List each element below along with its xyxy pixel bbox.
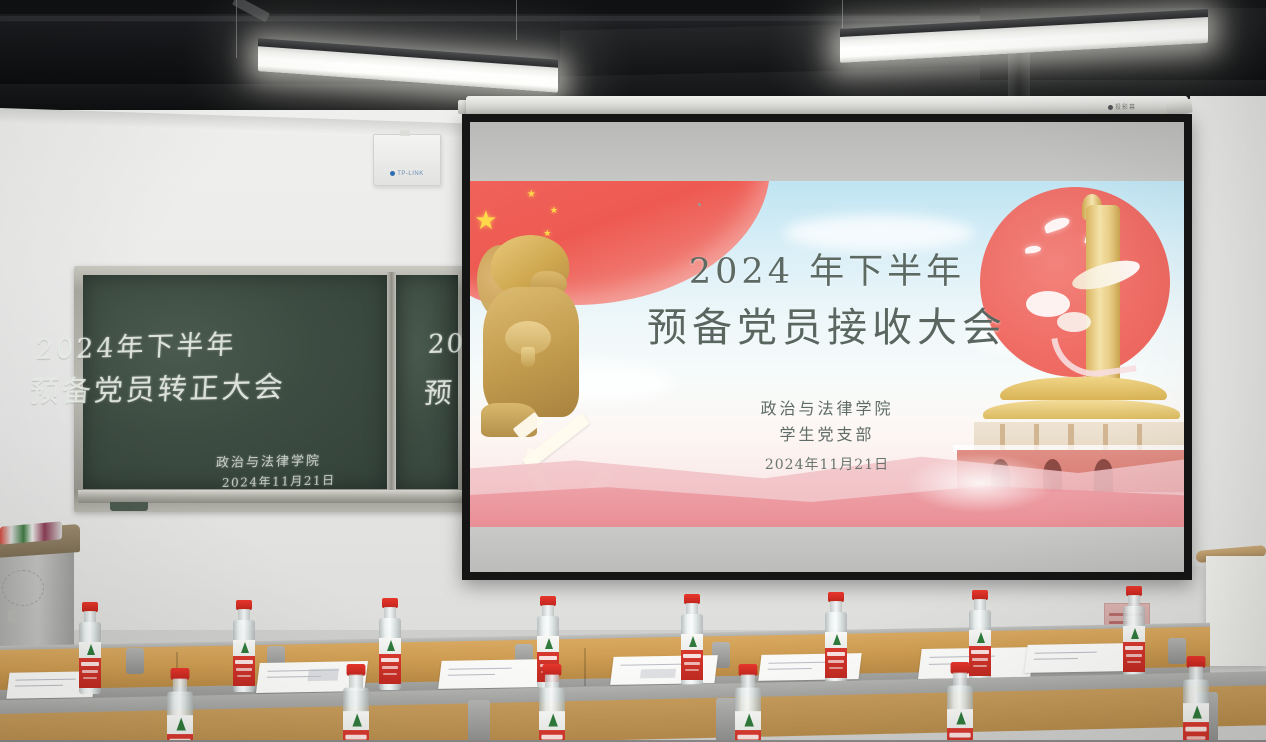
- bottle-tree-logo-icon: [744, 714, 753, 727]
- bottle-tree-logo-icon: [352, 714, 361, 727]
- paper-text-line: [15, 679, 75, 681]
- projector-screen-surface: ★ ★ ★ ★ ★: [470, 122, 1184, 572]
- bottle-label-text: [383, 673, 397, 675]
- bottle-label-red: [233, 656, 255, 686]
- screen-roller-cap-right: [1165, 99, 1192, 116]
- bottle-label-text: [83, 677, 97, 679]
- bottle-label-text: [683, 654, 701, 658]
- lamp-hanging-wire: [236, 0, 237, 58]
- screen-blank-top-area: [470, 122, 1184, 181]
- bottle-label-red: [1123, 642, 1145, 672]
- flag-small-star-icon: ★: [550, 205, 558, 216]
- chalk-tray-clip: [110, 502, 148, 511]
- tiananmen-lower-roof: [983, 400, 1180, 419]
- bottle-tree-logo-icon: [241, 642, 249, 653]
- bottle-label-red: [79, 658, 101, 688]
- wall-right-section: [1190, 96, 1266, 566]
- bottle-label-text: [685, 669, 699, 671]
- blackboard-text-line2: 预备党员转正大会: [29, 364, 288, 411]
- bottle-label-text: [1185, 727, 1206, 732]
- paper-table-block: [307, 669, 339, 682]
- bottle-label-text: [381, 658, 399, 662]
- desk-bracket: [1168, 638, 1186, 664]
- bottle-label-text: [539, 656, 557, 660]
- screen-blank-bottom-area: [470, 527, 1184, 572]
- tiananmen-upper-roof: [1000, 377, 1167, 401]
- paper-text-line: [768, 662, 832, 664]
- roller-brand-label: 投影幕: [1108, 102, 1136, 111]
- bottle-label-text: [81, 662, 99, 666]
- bottle-tree-logo-icon: [689, 636, 697, 647]
- projector-screen: ★ ★ ★ ★ ★: [462, 114, 1192, 580]
- document-paper: [1024, 643, 1128, 673]
- lion-bell: [521, 347, 535, 367]
- device-nub: [400, 130, 410, 136]
- bottle-label-red: [681, 650, 703, 680]
- bottle-label-text: [82, 670, 98, 673]
- bottle-label-text: [972, 658, 988, 661]
- slide-glow: [905, 453, 1055, 513]
- paper-text-line: [15, 685, 63, 687]
- slide-cloud: [784, 215, 974, 251]
- paper-text-line: [621, 664, 684, 666]
- flag-small-star-icon: ★: [527, 189, 536, 200]
- bottle-label-text: [971, 650, 989, 654]
- podium-speaker-grille-icon: [2, 570, 44, 606]
- bottle-label-text: [684, 662, 700, 665]
- bottle-tree-logo-icon: [87, 644, 95, 655]
- blackboard2-text-line1: 20: [427, 329, 466, 360]
- blackboard-text-line1: 2024年下半年: [35, 322, 238, 367]
- bottle-label-text: [737, 735, 758, 740]
- bottle-label-text: [973, 665, 987, 667]
- projector-screen-roller: 投影幕: [466, 96, 1188, 116]
- bottle-label-text: [237, 675, 251, 677]
- paper-text-line: [1035, 652, 1097, 654]
- desk-bracket: [468, 700, 490, 742]
- paper-text-line: [449, 668, 513, 670]
- paper-text-line: [1034, 658, 1078, 660]
- device-brand-label: TP-LINK: [374, 171, 440, 177]
- bottle-label-text: [1127, 661, 1141, 663]
- right-lectern: [1206, 556, 1266, 666]
- bottle-label-red: [379, 654, 401, 684]
- blackboard-text-line4: 2024年11月21日: [222, 471, 336, 491]
- bottle-label-red: [969, 646, 991, 676]
- document-paper: [438, 659, 544, 689]
- bottle-tree-logo-icon: [1131, 628, 1139, 639]
- bottle-tree-logo-icon: [833, 634, 841, 645]
- bottle-label-text: [235, 660, 253, 664]
- bottle-label-text: [829, 667, 843, 669]
- desk-seam: [584, 648, 586, 686]
- bottle-label-text: [828, 660, 844, 663]
- bottle-tree-logo-icon: [956, 712, 965, 725]
- bottle-label-text: [827, 652, 845, 656]
- bottle-label-text: [949, 733, 970, 738]
- lamp-hanging-wire: [516, 0, 517, 40]
- blackboard2-text-line2: 预: [423, 371, 456, 412]
- paper-text-line: [448, 674, 495, 676]
- bottle-label-red: [825, 648, 847, 678]
- wall-mounted-access-point: TP-LINK: [373, 134, 441, 186]
- blackboard-text-line3: 政治与法律学院: [216, 450, 322, 471]
- podium-plate: [8, 610, 20, 622]
- paper-table-block: [640, 669, 677, 679]
- bottle-tree-logo-icon: [977, 632, 985, 643]
- bottle-label-text: [1125, 646, 1143, 650]
- paper-text-line: [768, 668, 812, 670]
- bottle-tree-logo-icon: [548, 714, 557, 727]
- bottle-label-text: [345, 735, 366, 740]
- bottle-label-text: [382, 666, 398, 669]
- bottle-label-red: [1183, 722, 1209, 742]
- desk-bracket: [126, 648, 144, 674]
- bottle-label-text: [1126, 654, 1142, 657]
- projected-slide: ★ ★ ★ ★ ★: [470, 181, 1184, 528]
- roller-brand-dot-icon: [1108, 105, 1113, 110]
- flag-big-star-icon: ★: [474, 205, 497, 236]
- lamp-hanging-wire: [842, 0, 843, 28]
- bottle-label-text: [541, 735, 562, 740]
- bottle-tree-logo-icon: [545, 638, 553, 649]
- bottle-label-text: [236, 668, 252, 671]
- brand-dot-icon: [390, 171, 395, 176]
- bottle-tree-logo-icon: [1192, 706, 1201, 719]
- classroom-photo: TP-LINK 2024年下半年 预备党员转正大会 政治与法律学院 2024年1…: [0, 0, 1266, 742]
- bottle-tree-logo-icon: [176, 718, 185, 731]
- blackboard-divider: [387, 272, 396, 492]
- bottle-tree-logo-icon: [387, 640, 395, 651]
